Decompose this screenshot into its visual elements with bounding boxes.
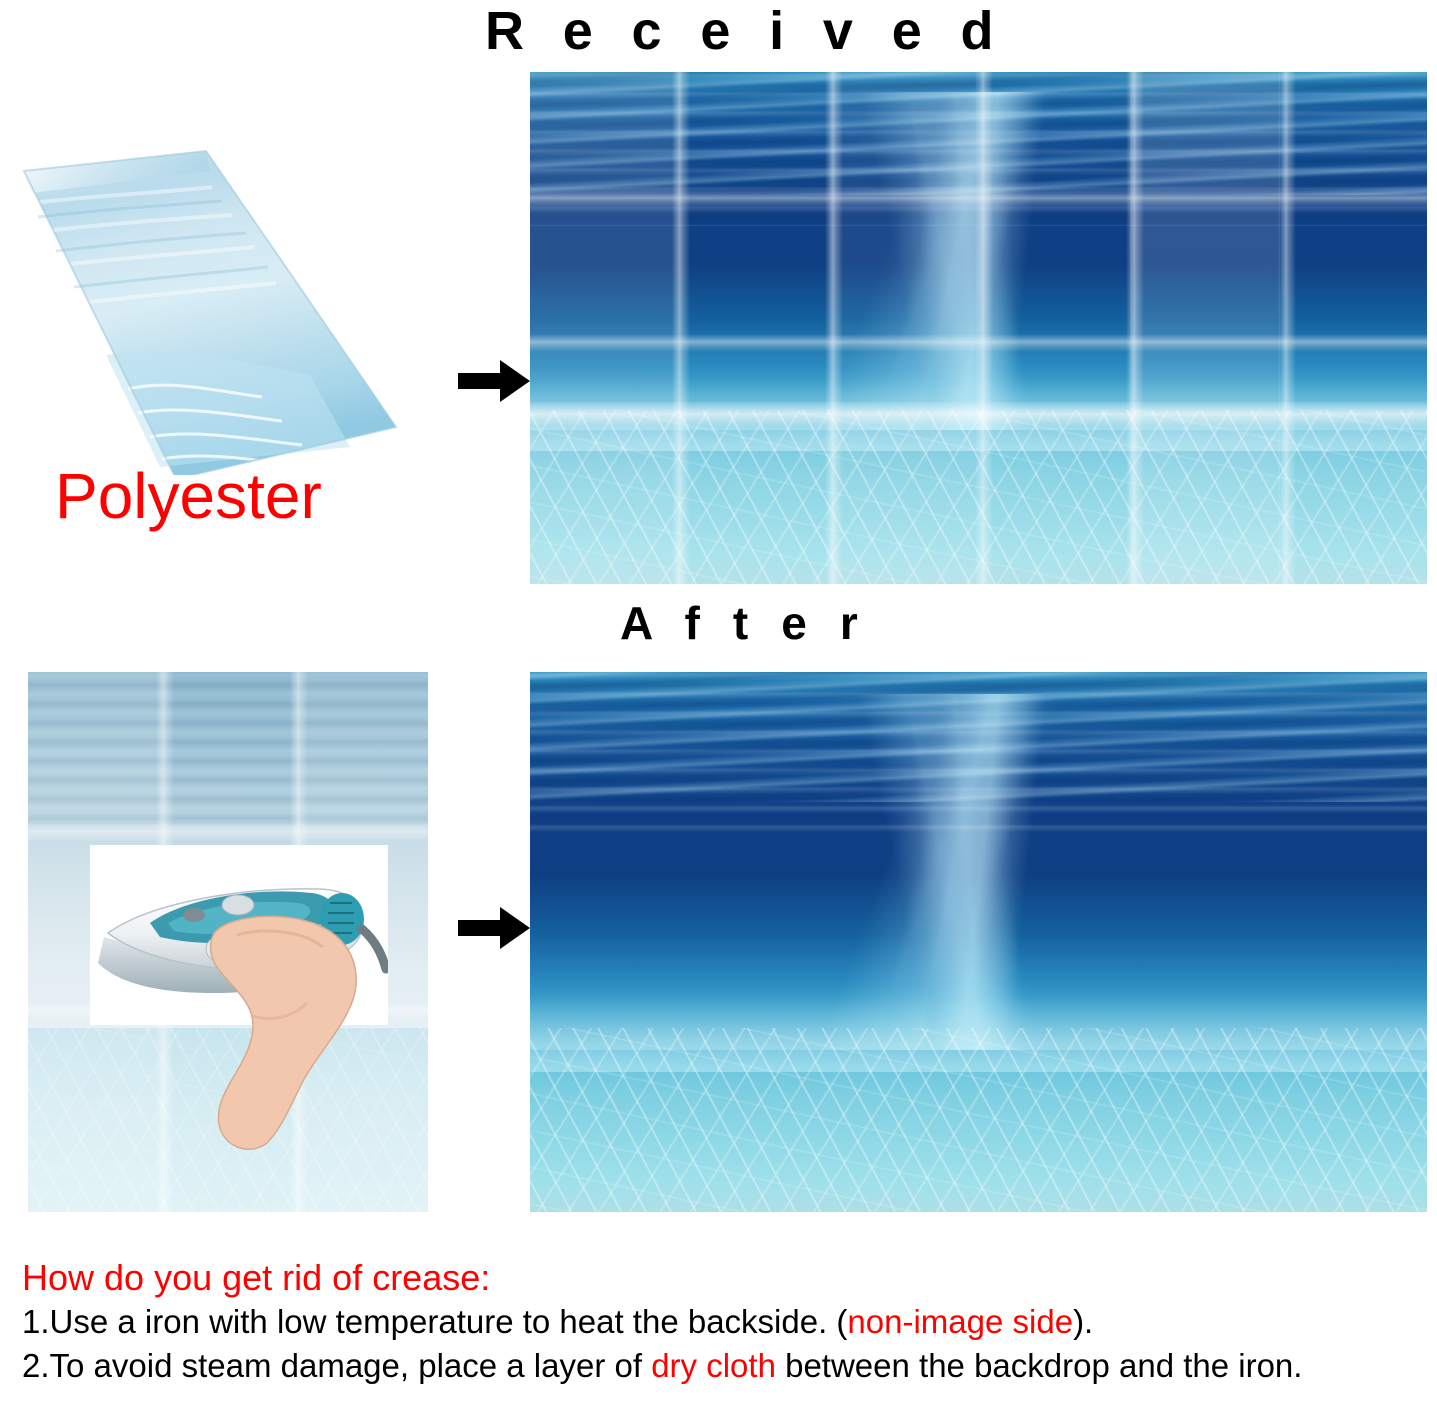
iron-and-hand-photo — [90, 845, 388, 1025]
instructions-heading: How do you get rid of crease: — [22, 1256, 1422, 1300]
instruction-line-2: 2.To avoid steam damage, place a layer o… — [22, 1344, 1422, 1388]
instruction-1-text-a: 1.Use a iron with low temperature to hea… — [22, 1303, 847, 1340]
after-backdrop-photo — [530, 672, 1427, 1212]
instruction-1-text-b: ). — [1073, 1303, 1093, 1340]
after-heading: A f t e r — [620, 598, 868, 648]
hand-icon — [185, 905, 445, 1155]
instruction-1-highlight: non-image side — [847, 1303, 1073, 1340]
received-heading: R e c e i v e d — [485, 2, 1005, 60]
care-instructions: How do you get rid of crease: 1.Use a ir… — [22, 1256, 1422, 1388]
received-backdrop-photo — [530, 72, 1427, 584]
arrow-right-icon — [458, 358, 530, 404]
instruction-2-text-b: between the backdrop and the iron. — [776, 1347, 1303, 1384]
folded-fabric-swatch — [10, 75, 430, 475]
product-instruction-graphic: Polyester R e c e i v e d — [0, 0, 1437, 1401]
arrow-right-icon-2 — [458, 905, 530, 951]
instruction-2-highlight: dry cloth — [651, 1347, 776, 1384]
material-label: Polyester — [55, 462, 322, 530]
instruction-2-text-a: 2.To avoid steam damage, place a layer o… — [22, 1347, 651, 1384]
instruction-line-1: 1.Use a iron with low temperature to hea… — [22, 1300, 1422, 1344]
